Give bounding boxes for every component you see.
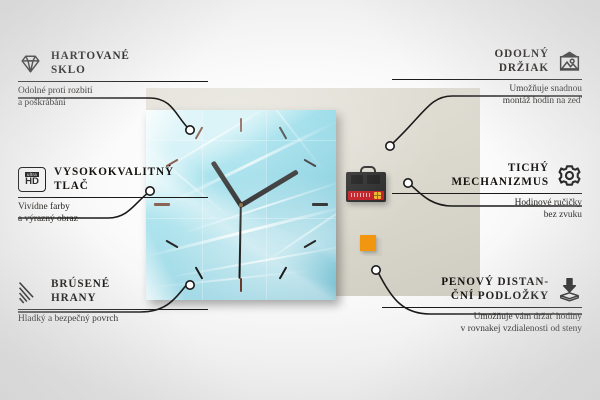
feature-hardened-glass: HARTOVANÉ SKLO Odolné proti rozbití a po… (18, 50, 208, 109)
feature-title-line-1: ODOLNÝ (494, 48, 549, 62)
feature-divider (18, 309, 208, 310)
feature-title-line-2: TLAČ (54, 180, 174, 194)
feature-divider (382, 307, 582, 308)
foam-spacer-icon (557, 277, 582, 302)
feature-description-line-1: Vivídne farby (18, 202, 208, 214)
feature-description-line-1: Umožňuje vám držať hodiny (382, 312, 582, 324)
feature-description-line-2: v rovnakej vzdialenosti od steny (382, 324, 582, 336)
feature-divider (392, 79, 582, 80)
diamond-icon (18, 51, 43, 76)
wire-endpoint-dot (186, 126, 194, 134)
feature-description-line-2: a výrazný obraz (18, 214, 208, 226)
feature-title-line-2: SKLO (51, 64, 130, 78)
feature-description-line-2: bez zvuku (392, 210, 582, 222)
picture-frame-icon (557, 49, 582, 74)
gear-icon (557, 163, 582, 188)
infographic-canvas: HARTOVANÉ SKLO Odolné proti rozbití a po… (0, 0, 600, 400)
feature-foam-spacers: PENOVÝ DISTAN- ČNÍ PODLOŽKY Umožňuje vám… (382, 276, 582, 335)
feature-description-line-1: Umožňuje snadnou (392, 84, 582, 96)
wire-endpoint-dot (372, 266, 380, 274)
feature-title-line-1: PENOVÝ DISTAN- (441, 276, 549, 290)
feature-silent-mechanism: TICHÝ MECHANIZMUS Hodinové ručičky bez z… (392, 162, 582, 221)
feature-beveled-edges: BRÚSENÉ HRANY Hladký a bezpečný povrch (18, 278, 208, 326)
wire-endpoint-dot (386, 142, 394, 150)
feature-description-line-1: Hodinové ručičky (392, 198, 582, 210)
feature-title-line-2: ČNÍ PODLOŽKY (441, 290, 549, 304)
feature-divider (18, 81, 208, 82)
feature-description-line-1: Hladký a bezpečný povrch (18, 314, 208, 326)
feature-hd-print: ultra HD VYSOKOKVALITNÝ TLAČ Vivídne far… (18, 166, 208, 225)
feature-title-line-1: BRÚSENÉ (51, 278, 110, 292)
feature-title-line-2: MECHANIZMUS (451, 176, 549, 190)
feature-description-line-2: montáž hodin na zeď (392, 96, 582, 108)
feature-durable-holder: ODOLNÝ DRŽIAK Umožňuje snadnou montáž ho… (392, 48, 582, 107)
feature-title-line-2: HRANY (51, 292, 110, 306)
feature-description-line-2: a poškrábání (18, 98, 208, 110)
beveled-edges-icon (18, 279, 43, 304)
feature-description-line-1: Odolné proti rozbití (18, 86, 208, 98)
feature-title-line-1: HARTOVANÉ (51, 50, 130, 64)
feature-divider (18, 197, 208, 198)
ultra-hd-badge-icon: ultra HD (18, 167, 46, 192)
feature-divider (392, 193, 582, 194)
feature-title-line-1: VYSOKOKVALITNÝ (54, 166, 174, 180)
feature-title-line-1: TICHÝ (451, 162, 549, 176)
badge-hd-text: HD (25, 177, 39, 187)
feature-title-line-2: DRŽIAK (494, 62, 549, 76)
